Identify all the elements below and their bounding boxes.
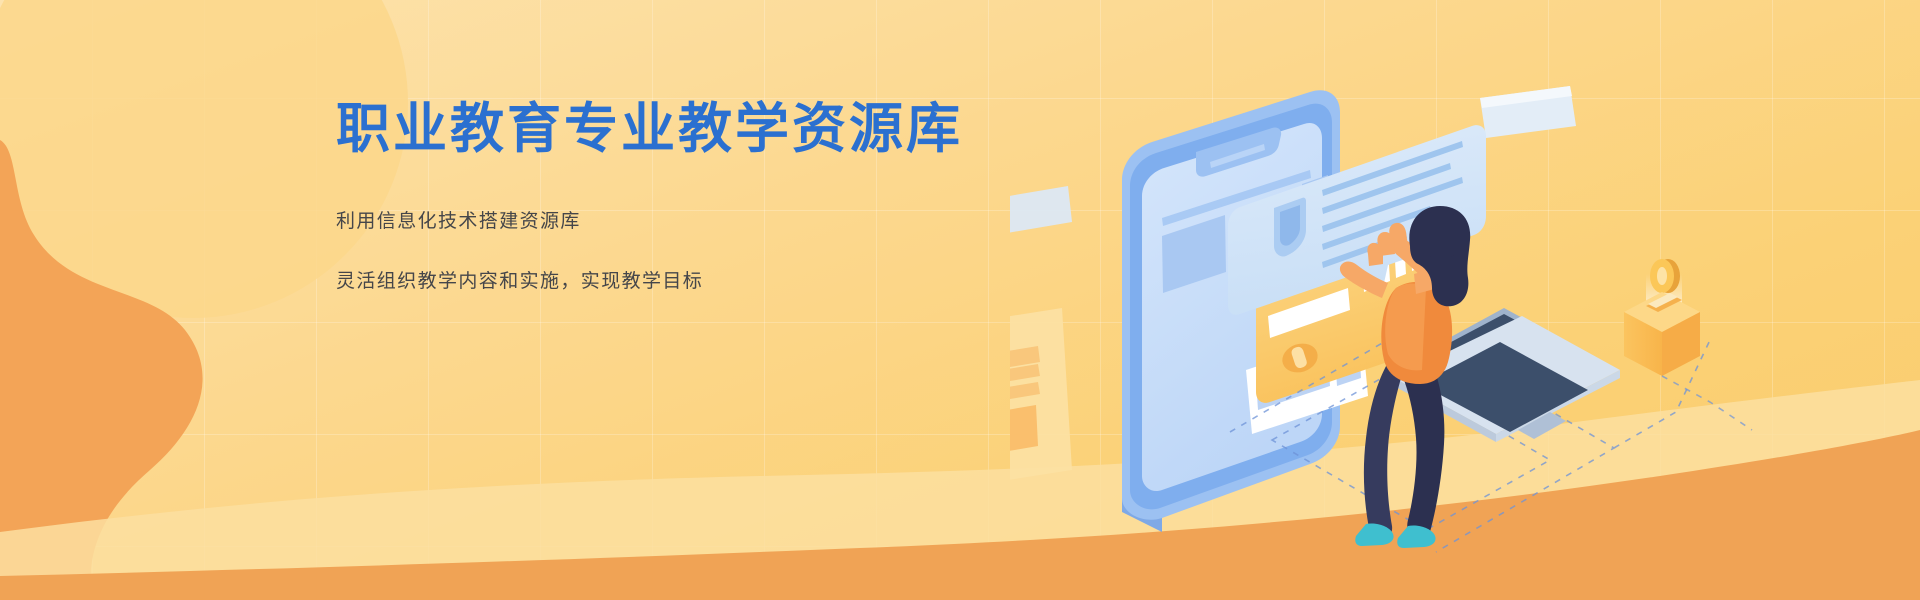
- dashed-connector-line: [1662, 376, 1752, 430]
- page-title: 职业教育专业教学资源库: [336, 98, 1056, 160]
- hero-banner: 职业教育专业教学资源库 利用信息化技术搭建资源库 灵活组织教学内容和实施，实现教…: [0, 0, 1920, 600]
- subtitle-line-1: 利用信息化技术搭建资源库: [336, 204, 1056, 240]
- hero-copy: 职业教育专业教学资源库 利用信息化技术搭建资源库 灵活组织教学内容和实施，实现教…: [336, 98, 1056, 300]
- coin-box-illustration: [1624, 259, 1700, 376]
- coin-icon: [1650, 259, 1680, 293]
- floating-card-left: [1010, 186, 1072, 244]
- floating-card-topright: [1480, 86, 1576, 138]
- subtitle-line-2: 灵活组织教学内容和实施，实现教学目标: [336, 264, 1056, 300]
- hero-illustration: [1010, 40, 1810, 570]
- illustration-svg: [1010, 40, 1810, 570]
- content-card-bottom-left: [1010, 308, 1072, 502]
